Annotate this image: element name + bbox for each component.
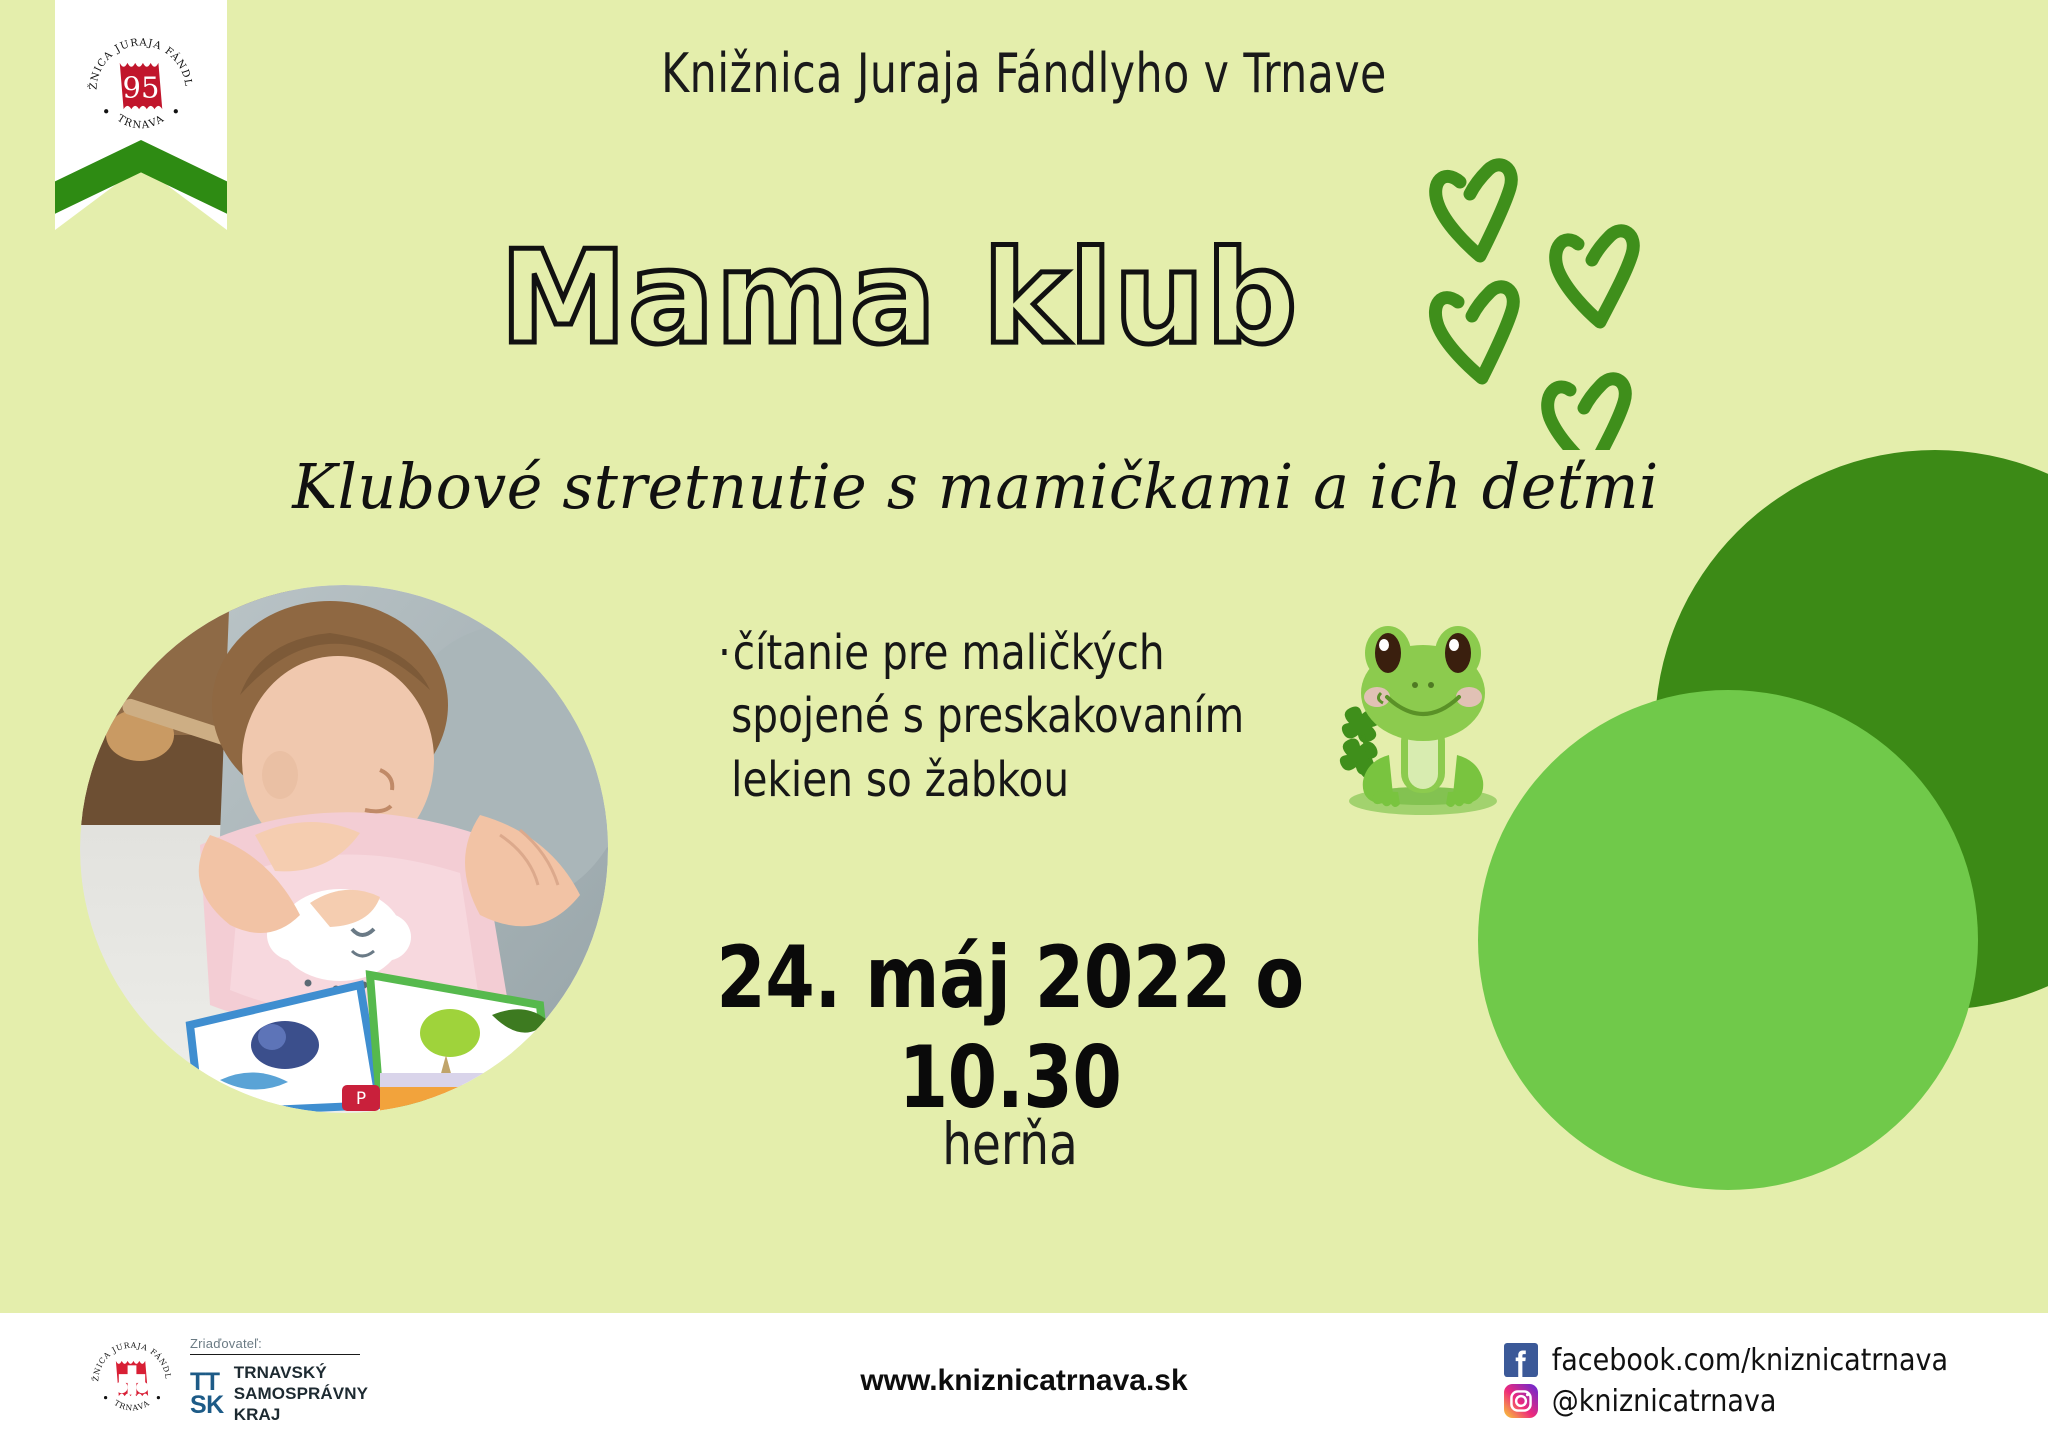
bullet-marker: · <box>718 625 731 681</box>
facebook-icon <box>1504 1343 1538 1377</box>
facebook-link[interactable]: facebook.com/kniznicatrnava <box>1504 1343 1948 1378</box>
instagram-link[interactable]: @kniznicatrnava <box>1504 1384 1948 1419</box>
bullet-line-2: spojené s preskakovaním <box>731 688 1244 744</box>
footer-bar: KNIŽNICA JURAJA FÁNDLYHO TRNAVA Zriaďova… <box>0 1313 2048 1448</box>
bullet-line-1: čítanie pre maličkých <box>733 625 1165 681</box>
heart-icon <box>1548 379 1626 450</box>
instagram-icon <box>1504 1384 1538 1418</box>
event-venue: herňa <box>605 1110 1415 1178</box>
list-item: spojené s preskakovaním <box>718 685 1320 748</box>
event-title: Mama klub <box>0 232 2048 366</box>
photo-illustration: P <box>80 585 608 1113</box>
event-date-time: 24. máj 2022 o 10.30 <box>596 928 1424 1128</box>
poster-canvas: KNIŽNICA JURAJA FÁNDLYHO TRNAVA 95 Knižn… <box>0 0 2048 1448</box>
svg-text:TRNAVA: TRNAVA <box>115 113 167 131</box>
hearts-decoration <box>1400 130 1700 450</box>
divider <box>190 1354 360 1356</box>
page-title-organization: Knižnica Juraja Fándlyho v Trnave <box>123 42 1925 105</box>
svg-text:TRNAVA: TRNAVA <box>112 1399 151 1413</box>
list-item: ·čítanie pre maličkých <box>718 622 1320 685</box>
bullet-line-3: lekien so žabkou <box>731 752 1069 808</box>
ttsk-name-line3: KRAJ <box>234 1405 368 1426</box>
event-description-list: ·čítanie pre maličkých spojené s preskak… <box>718 622 1320 812</box>
list-item: lekien so žabkou <box>718 749 1320 812</box>
ttsk-monogram-line2: SK <box>190 1394 224 1418</box>
facebook-handle: facebook.com/kniznicatrnava <box>1552 1343 1948 1378</box>
library-ribbon-banner: KNIŽNICA JURAJA FÁNDLYHO TRNAVA 95 <box>55 0 227 230</box>
event-subtitle: Klubové stretnutie s mamičkami a ich deť… <box>31 450 2018 523</box>
frog-icon <box>1325 605 1515 820</box>
instagram-handle: @kniznicatrnava <box>1552 1384 1777 1419</box>
baby-reading-photo: P <box>80 585 608 1113</box>
heart-icon <box>1435 287 1513 378</box>
social-links-group: facebook.com/kniznicatrnava <box>1504 1343 1948 1419</box>
heart-icon <box>1436 165 1512 256</box>
heart-icon <box>1556 231 1634 322</box>
founder-label: Zriaďovateľ: <box>190 1336 368 1351</box>
decor-circle-light-green <box>1478 690 1978 1190</box>
